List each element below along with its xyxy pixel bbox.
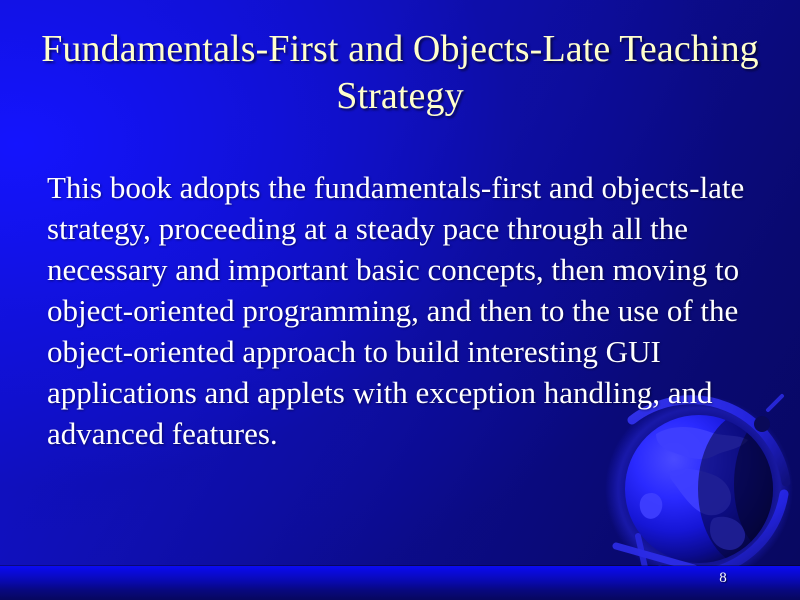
slide-body-text: This book adopts the fundamentals-first … [47,167,759,454]
slide-title: Fundamentals-First and Objects-Late Teac… [20,26,780,120]
presentation-slide: Fundamentals-First and Objects-Late Teac… [0,0,800,600]
footer-band [0,566,800,600]
page-number: 8 [705,568,741,588]
